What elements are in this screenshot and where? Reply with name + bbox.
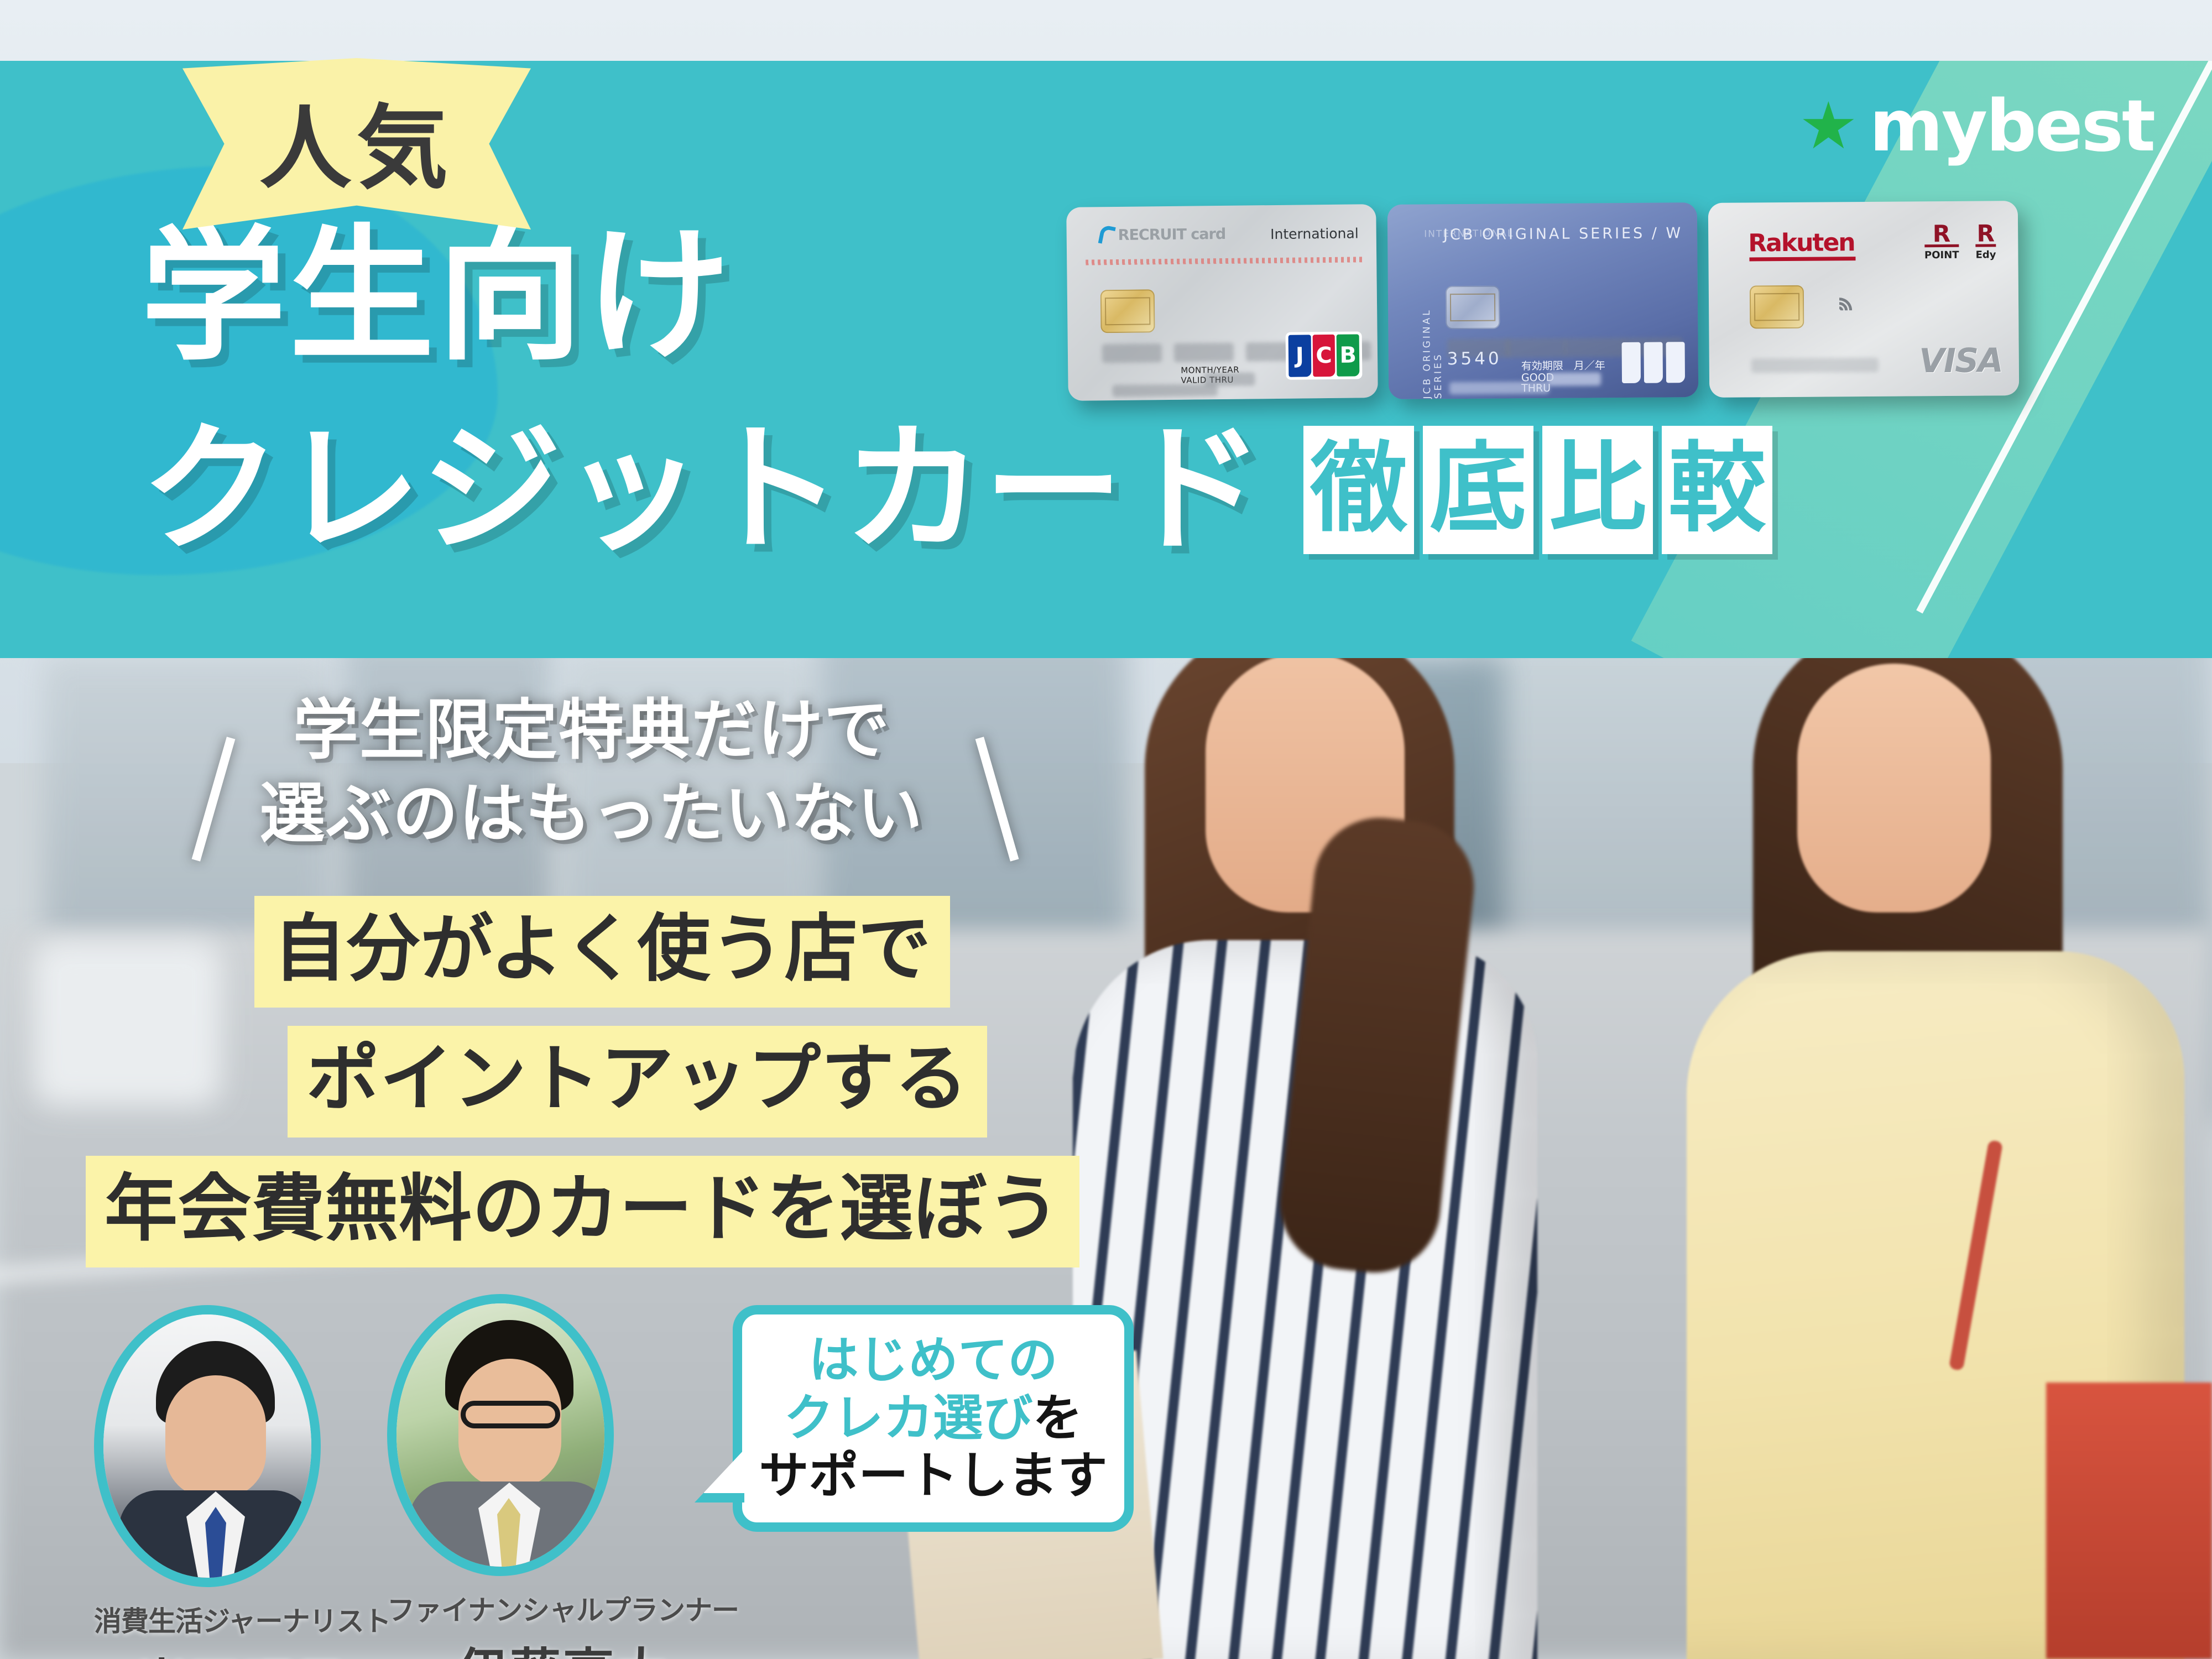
expert-2-photo <box>397 1303 604 1567</box>
bubble-line-2: クレカ選びを <box>784 1390 1083 1447</box>
white-van <box>33 940 221 1106</box>
red-shopping-bag <box>2046 1383 2212 1659</box>
popular-ribbon-badge: 人気 <box>182 58 531 229</box>
subheadline-line-2: 選ぶのはもったいない <box>260 772 924 855</box>
bubble-line-2-black: を <box>1033 1389 1083 1447</box>
emv-chip-icon <box>1100 289 1155 333</box>
cardholder-name-mask <box>1449 382 1549 394</box>
ribbon-label: 人気 <box>182 58 531 229</box>
expert-2-avatar <box>387 1294 614 1576</box>
r-edy-letter: R <box>1975 223 1996 247</box>
glasses-icon <box>461 1401 560 1428</box>
card-hologram-dots <box>1086 257 1364 265</box>
expert-1-avatar <box>94 1305 321 1587</box>
recruit-brand-mark: RECRUIT card <box>1100 225 1226 244</box>
jcb-network-logo: J C B <box>1286 331 1363 379</box>
highlight-line-3: 年会費無料のカードを選ぼう <box>86 1156 1079 1267</box>
expert-card-2: ファイナンシャルプランナー 伊藤亮太 <box>387 1294 739 1659</box>
credit-card-jcb-original-series-w: INTERNATIONAL JCB ORIGINAL SERIES / W JC… <box>1387 202 1698 399</box>
expert-1-face <box>165 1375 266 1498</box>
jcb-letter-j: J <box>1288 335 1311 377</box>
expert-1-photo <box>103 1314 311 1578</box>
expert-2-role: ファイナンシャルプランナー <box>387 1588 739 1628</box>
jcb-letter-b: B <box>1337 334 1359 376</box>
visa-network-logo: VISA <box>1919 341 2002 380</box>
expert-card-1: 消費生活ジャーナリスト 岩田昭男 <box>94 1305 391 1659</box>
card-number-mask-2 <box>1174 343 1234 362</box>
card-international-label: International <box>1270 225 1359 242</box>
subheadline: 学生限定特典だけで 選ぶのはもったいない <box>260 688 924 855</box>
r-point-mark: R POINT <box>1924 223 1959 261</box>
expert-1-name: 岩田昭男 <box>94 1642 391 1659</box>
r-edy-label: Edy <box>1975 249 1996 260</box>
credit-card-rakuten: Rakuten R POINT R Edy VISA <box>1708 201 2019 398</box>
rakuten-service-marks: R POINT R Edy <box>1924 223 1996 261</box>
recruit-brand-text: RECRUIT card <box>1118 225 1226 243</box>
mybest-logo[interactable]: mybest <box>1802 91 2154 162</box>
jcb-network-logo <box>1622 342 1686 383</box>
person-right-face <box>1797 664 1991 912</box>
card-number-prefix: 3540 <box>1447 349 1502 369</box>
r-point-label: POINT <box>1924 249 1959 261</box>
expert-1-role: 消費生活ジャーナリスト <box>94 1599 391 1639</box>
compare-char-3: 比 <box>1542 426 1653 554</box>
card-expiry-jp-label: 有効期限 月／年 <box>1521 360 1605 372</box>
recruit-hook-icon <box>1098 225 1116 246</box>
rakuten-brand-text: Rakuten <box>1748 228 1855 257</box>
headline-line-2: クレジットカード <box>141 420 1265 560</box>
compare-char-1: 徹 <box>1303 426 1414 554</box>
contactless-icon <box>1826 297 1853 324</box>
emv-chip-icon <box>1750 285 1804 329</box>
card-number-mask-2 <box>1505 338 1566 358</box>
compare-char-4: 較 <box>1662 426 1772 554</box>
highlight-line-1: 自分がよく使う店で <box>254 896 950 1008</box>
compare-char-2: 底 <box>1423 426 1533 554</box>
banner-canvas: 人気 mybest 学生向け クレジットカード 徹 底 比 較 RECRUIT … <box>0 0 2212 1659</box>
card-number-mask-1 <box>1102 343 1162 363</box>
jcb-letter-c: C <box>1312 335 1335 377</box>
headline-row-2: クレジットカード 徹 底 比 較 <box>141 420 1772 560</box>
r-edy-mark: R Edy <box>1975 223 1996 260</box>
expert-2-name: 伊藤亮太 <box>387 1631 739 1659</box>
headline-line-1: 学生向け <box>141 221 734 371</box>
card-vertical-series-label: JCB ORIGINAL SERIES <box>1421 264 1444 399</box>
subheadline-line-1: 学生限定特典だけで <box>260 688 924 772</box>
bubble-line-2-teal: クレカ選び <box>784 1389 1033 1447</box>
card-series-label: JCB ORIGINAL SERIES / W <box>1443 225 1683 243</box>
emv-chip-icon <box>1446 286 1500 330</box>
cardholder-name-mask <box>1113 384 1218 397</box>
r-point-letter: R <box>1924 223 1959 247</box>
star-icon <box>1802 101 1855 152</box>
support-speech-bubble: はじめての クレカ選びを サポートします <box>733 1305 1134 1532</box>
highlight-line-2: ポイントアップする <box>288 1026 987 1138</box>
mybest-logo-text: mybest <box>1869 91 2154 162</box>
card-expiry-mask <box>1548 372 1601 386</box>
bubble-line-1: はじめての <box>809 1332 1058 1389</box>
card-number-mask-3 <box>1564 338 1625 357</box>
card-number-mask <box>1751 358 1879 373</box>
bubble-line-3: サポートします <box>759 1447 1108 1505</box>
credit-card-recruit: RECRUIT card International MONTH/YEAR VA… <box>1066 204 1378 401</box>
compare-badge: 徹 底 比 較 <box>1303 426 1772 554</box>
